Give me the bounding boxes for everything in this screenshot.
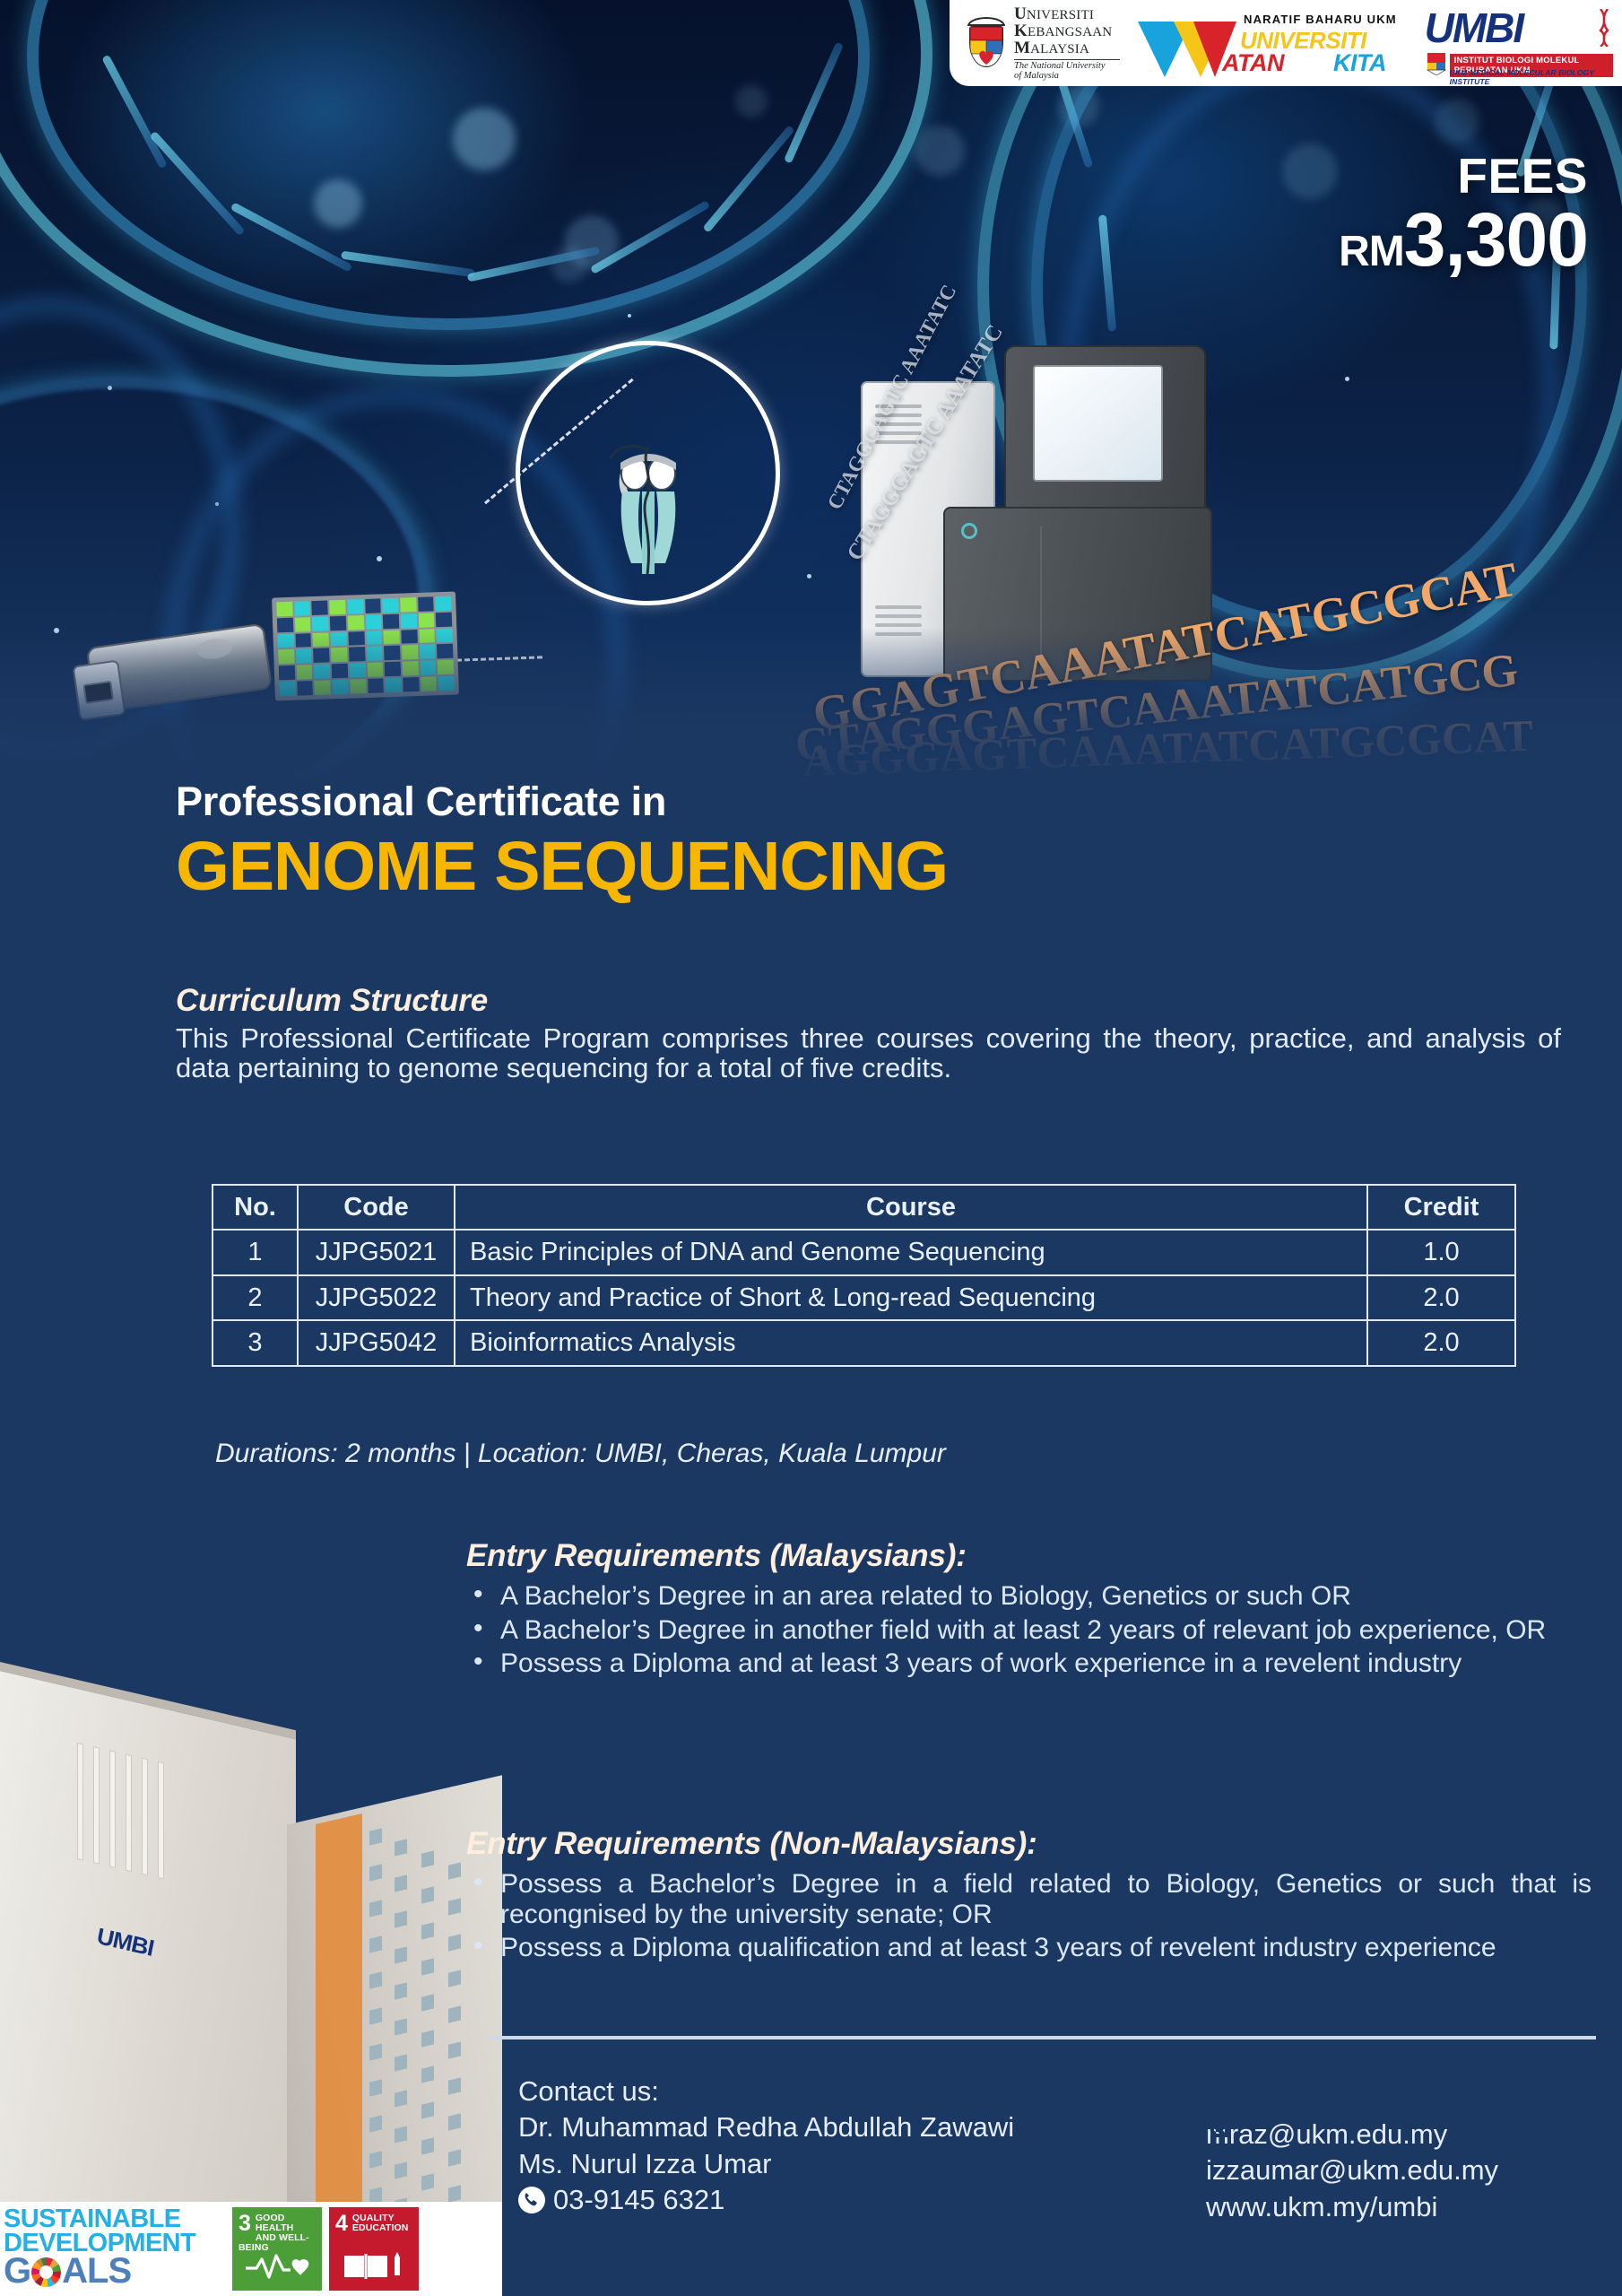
contact-person-1: Dr. Muhammad Redha Abdullah Zawawi xyxy=(518,2109,1014,2145)
page-eyebrow: Professional Certificate in xyxy=(176,778,666,825)
table-row: 1 JJPG5021 Basic Principles of DNA and G… xyxy=(213,1230,1515,1274)
naratif-baharu-logo: NARATIF BAHARU UKM UNIVERSITI ATAN KITA xyxy=(1134,9,1410,77)
fees-value: 3,300 xyxy=(1404,197,1588,282)
ukm-rule xyxy=(1014,59,1120,60)
flowcell-cell xyxy=(400,597,416,612)
cell-code: JJPG5021 xyxy=(298,1230,455,1274)
phone-icon xyxy=(518,2187,545,2213)
column-header-credit: Credit xyxy=(1367,1185,1515,1230)
umbi-dna-icon xyxy=(1599,9,1609,47)
hero-artwork: CTAGGGAGTC AAATATC CTAGGGAGTC AAATATC GG… xyxy=(0,0,1622,789)
list-item: Possess a Bachelor’s Degree in a field r… xyxy=(466,1869,1592,1929)
bokeh-dot xyxy=(453,108,516,170)
cell-code: JJPG5022 xyxy=(298,1275,455,1320)
sdg-line-1: SUSTAINABLE xyxy=(4,2207,223,2231)
contact-phone: 03-9145 6321 xyxy=(553,2184,724,2215)
sdg-logo-strip: SUSTAINABLE DEVELOPMENT GALS 3 GOOD HEAL… xyxy=(0,2202,502,2296)
list-item: A Bachelor’s Degree in another field wit… xyxy=(466,1615,1592,1646)
sdg-wordmark: SUSTAINABLE DEVELOPMENT GALS xyxy=(0,2202,229,2296)
sdg-goal-4-label-line2: EDUCATION xyxy=(352,2222,409,2233)
page-title: GENOME SEQUENCING xyxy=(176,827,948,907)
poster-root: CTAGGGAGTC AAATATC CTAGGGAGTC AAATATC GG… xyxy=(0,0,1622,2296)
cell-credit: 2.0 xyxy=(1367,1275,1515,1320)
sdg-goal-4-card: 4 QUALITYEDUCATION xyxy=(329,2207,419,2291)
contact-email-1-row[interactable]: mraz@ukm.edu.my xyxy=(1206,2117,1498,2152)
ukm-crest-icon xyxy=(966,17,1007,69)
contact-email-2: izzaumar@ukm.edu.my xyxy=(1206,2154,1498,2186)
sdg-goal-3-number: 3 xyxy=(239,2213,251,2234)
entry-requirements-non-malaysians: Entry Requirements (Non-Malaysians): Pos… xyxy=(466,1826,1592,1967)
contact-phone-row[interactable]: 03-9145 6321 xyxy=(518,2182,1014,2218)
building-orange-stripe xyxy=(316,1813,362,2233)
list-item: Possess a Diploma and at least 3 years o… xyxy=(466,1648,1592,1679)
bokeh-dot xyxy=(735,85,768,117)
curriculum-paragraph: This Professional Certificate Program co… xyxy=(176,1024,1561,1083)
sdg-color-wheel-icon xyxy=(31,2257,61,2287)
table-row: 2 JJPG5022 Theory and Practice of Short … xyxy=(213,1275,1515,1320)
star-dot xyxy=(807,574,811,578)
cell-no: 2 xyxy=(213,1275,298,1320)
flowcell-cell xyxy=(383,614,399,629)
umbi-building-photo: UMBI xyxy=(0,1605,502,2233)
ukm-kebangsaan: EBANGSAAN xyxy=(1028,25,1112,39)
list-item: Possess a Diploma qualification and at l… xyxy=(466,1933,1592,1963)
flowcell-cell xyxy=(276,602,292,616)
list-item: A Bachelor’s Degree in an area related t… xyxy=(466,1581,1592,1612)
bokeh-dot xyxy=(551,247,587,283)
contact-block-right: mraz@ukm.edu.my izzaumar@ukm.edu.my www.… xyxy=(1206,2117,1498,2225)
flowcell-cell xyxy=(294,601,310,615)
entry-malaysians-list: A Bachelor’s Degree in an area related t… xyxy=(466,1581,1592,1679)
ukm-wordmark: UNIVERSITI KEBANGSAAN MALAYSIA The Natio… xyxy=(1014,5,1120,82)
bokeh-dot xyxy=(314,179,362,228)
sdg-goal-3-label-line1: GOOD HEALTH xyxy=(256,2213,293,2233)
institution-logo-bar: UNIVERSITI KEBANGSAAN MALAYSIA The Natio… xyxy=(950,0,1622,86)
flowcell-cell xyxy=(418,596,434,611)
fees-amount: RM3,300 xyxy=(1339,201,1588,291)
column-header-no: No. xyxy=(213,1185,298,1230)
protein-illustration xyxy=(610,439,687,574)
flowcell-cell xyxy=(312,600,328,614)
table-header-row: No. Code Course Credit xyxy=(213,1185,1515,1230)
cell-course: Bioinformatics Analysis xyxy=(455,1320,1367,1365)
umbi-crest-icon xyxy=(1427,52,1446,75)
building-window-column xyxy=(448,1862,461,2233)
open-book-pencil-icon xyxy=(329,2250,419,2285)
cell-no: 3 xyxy=(213,1320,298,1365)
building-window-column xyxy=(421,1850,434,2233)
column-header-course: Course xyxy=(455,1185,1367,1230)
flowcell-cell xyxy=(329,600,345,614)
contact-block-left: Contact us: Dr. Muhammad Redha Abdullah … xyxy=(518,2074,1014,2218)
cell-course: Basic Principles of DNA and Genome Seque… xyxy=(455,1230,1367,1274)
sdg-als: ALS xyxy=(62,2251,131,2291)
flowcell-cell xyxy=(382,598,398,613)
sdg-line-3: GALS xyxy=(4,2255,223,2288)
cell-code: JJPG5042 xyxy=(298,1320,455,1365)
sdg-goal-3-card: 3 GOOD HEALTHAND WELL-BEING xyxy=(232,2207,322,2291)
umbi-wordmark: UMBI xyxy=(1425,7,1613,48)
ukm-universiti: NIVERSITI xyxy=(1027,8,1094,22)
bokeh-dot xyxy=(1058,85,1099,126)
table-row: 3 JJPG5042 Bioinformatics Analysis 2.0 xyxy=(213,1320,1515,1365)
naratif-kita: KITA xyxy=(1333,49,1386,77)
contact-email-1: mraz@ukm.edu.my xyxy=(1206,2118,1447,2150)
entry-non-malaysians-list: Possess a Bachelor’s Degree in a field r… xyxy=(466,1869,1592,1963)
flowcell-cell xyxy=(435,596,451,611)
ukm-logo: UNIVERSITI KEBANGSAAN MALAYSIA The Natio… xyxy=(966,5,1120,82)
column-header-code: Code xyxy=(298,1185,455,1230)
courses-table: No. Code Course Credit 1 JJPG5021 Basic … xyxy=(212,1184,1516,1367)
ukm-tagline-line1: The National University xyxy=(1014,62,1120,72)
cell-course: Theory and Practice of Short & Long-read… xyxy=(455,1275,1367,1320)
sdg-g: G xyxy=(4,2251,30,2291)
naratif-watan: ATAN xyxy=(1222,49,1284,77)
fees-block: FEES RM3,300 xyxy=(1339,151,1588,291)
entry-malaysians-heading: Entry Requirements (Malaysians): xyxy=(466,1538,1592,1574)
heartbeat-icon xyxy=(232,2250,322,2285)
flowcell-cell xyxy=(347,599,363,613)
bokeh-dot xyxy=(915,126,965,176)
ukm-tagline-line2: of Malaysia xyxy=(1014,72,1120,82)
flowcell-cell xyxy=(365,598,381,613)
ukm-u: U xyxy=(1014,4,1027,23)
contact-heading: Contact us: xyxy=(518,2074,1014,2109)
contact-website: www.ukm.my/umbi xyxy=(1206,2191,1437,2222)
fees-label: FEES xyxy=(1339,151,1588,201)
hero-fade-overlay xyxy=(0,628,1622,789)
cell-credit: 1.0 xyxy=(1367,1230,1515,1274)
ukm-m: M xyxy=(1014,39,1030,57)
building-window-column xyxy=(369,1828,382,2233)
durations-location-note: Durations: 2 months | Location: UMBI, Ch… xyxy=(215,1439,946,1469)
contact-website-row[interactable]: www.ukm.my/umbi xyxy=(1206,2189,1498,2225)
contact-person-2: Ms. Nurul Izza Umar xyxy=(518,2146,1014,2182)
contact-divider xyxy=(489,2036,1596,2039)
umbi-logo: UMBI INSTITUT BIOLOGI MOLEKUL PERUBATAN … xyxy=(1425,7,1613,79)
umbi-english-name: UKM MEDICAL MOLECULAR BIOLOGY INSTITUTE xyxy=(1450,68,1613,86)
star-dot xyxy=(628,314,631,317)
naratif-tagline: NARATIF BAHARU UKM xyxy=(1244,13,1397,26)
building-window-column xyxy=(395,1839,407,2233)
cell-no: 1 xyxy=(213,1230,298,1274)
ukm-malaysia: ALAYSIA xyxy=(1030,42,1089,57)
fees-currency: RM xyxy=(1339,228,1404,275)
curriculum-heading: Curriculum Structure xyxy=(176,983,488,1019)
entry-requirements-malaysians: Entry Requirements (Malaysians): A Bache… xyxy=(466,1538,1592,1683)
flowcell-cell xyxy=(418,613,434,627)
ukm-k: K xyxy=(1014,22,1028,40)
flowcell-cell xyxy=(436,612,452,626)
cell-credit: 2.0 xyxy=(1367,1320,1515,1365)
flowcell-cell xyxy=(401,613,417,628)
contact-email-2-row[interactable]: izzaumar@ukm.edu.my xyxy=(1206,2152,1498,2188)
entry-non-malaysians-heading: Entry Requirements (Non-Malaysians): xyxy=(466,1826,1592,1862)
sdg-goal-4-number: 4 xyxy=(335,2213,348,2234)
